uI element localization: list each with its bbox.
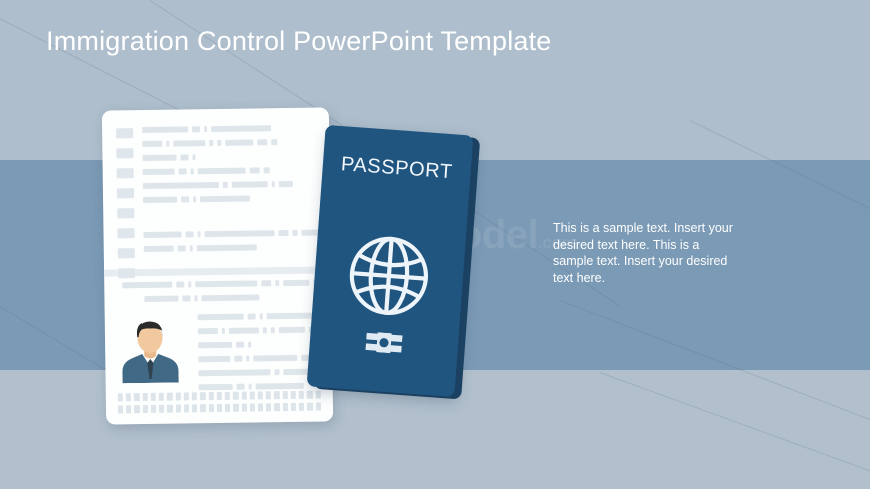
id-text-placeholder — [178, 245, 186, 251]
mrz-cell — [217, 404, 222, 412]
id-text-placeholder — [279, 327, 305, 333]
id-text-placeholder — [283, 280, 309, 286]
slide-canvas: Immigration Control PowerPoint Template … — [0, 0, 870, 489]
mrz-cell — [283, 403, 288, 411]
mrz-cell — [208, 392, 213, 400]
id-text-placeholder — [198, 328, 218, 334]
mrz-row — [118, 391, 321, 402]
id-field-label — [118, 268, 135, 278]
body-sample-text: This is a sample text. Insert your desir… — [553, 220, 739, 286]
id-text-placeholder — [293, 230, 298, 236]
mrz-cell — [176, 405, 181, 413]
avatar-figure — [120, 315, 181, 384]
mrz-cell — [274, 403, 279, 411]
mrz-cell — [167, 405, 172, 413]
id-text-placeholder — [248, 342, 251, 348]
mrz-cell — [217, 392, 222, 400]
mrz-cell — [184, 392, 189, 400]
id-text-placeholder — [181, 196, 189, 202]
id-text-placeholder — [190, 245, 193, 251]
id-text-placeholder — [279, 181, 293, 187]
id-text-placeholder — [198, 168, 246, 175]
mrz-cell — [184, 404, 189, 412]
id-text-placeholder — [264, 167, 270, 173]
mrz-cell — [159, 393, 164, 401]
id-field-label — [117, 208, 134, 218]
mrz-cell — [291, 391, 296, 399]
id-text-placeholder — [192, 126, 200, 132]
mrz-cell — [233, 404, 238, 412]
id-text-placeholder — [176, 281, 184, 287]
id-page-divider — [104, 266, 331, 276]
mrz-cell — [142, 393, 147, 401]
mrz-cell — [143, 405, 148, 413]
id-text-placeholder — [209, 140, 213, 146]
id-text-placeholder — [223, 182, 228, 188]
id-field-label — [118, 248, 135, 258]
mrz-cell — [266, 391, 271, 399]
mrz-cell — [175, 393, 180, 401]
id-text-placeholder — [211, 125, 271, 132]
id-text-placeholder — [143, 169, 175, 175]
id-text-placeholder — [236, 342, 244, 348]
id-field-label — [116, 128, 133, 138]
globe-icon — [345, 232, 433, 320]
id-text-placeholder — [144, 296, 178, 302]
mrz-cell — [118, 393, 123, 401]
id-text-placeholder — [263, 327, 267, 333]
id-text-placeholder — [204, 126, 207, 132]
biometric-chip-icon — [365, 331, 402, 354]
id-text-placeholder — [275, 280, 279, 286]
mrz-cell — [316, 403, 321, 411]
mrz-cell — [118, 405, 123, 413]
mrz-cell — [126, 393, 131, 401]
id-text-placeholder — [142, 155, 176, 161]
mrz-cell — [291, 403, 296, 411]
mrz-cell — [225, 392, 230, 400]
id-text-placeholder — [144, 231, 182, 238]
id-field-label — [117, 188, 134, 198]
id-text-placeholder — [234, 356, 242, 362]
slide-title: Immigration Control PowerPoint Template — [46, 26, 552, 57]
mrz-cell — [250, 403, 255, 411]
mrz-cell — [167, 393, 172, 401]
machine-readable-zone — [118, 391, 321, 418]
mrz-cell — [134, 393, 139, 401]
passport-cover: PASSPORT — [307, 125, 474, 397]
id-text-placeholder — [198, 356, 230, 362]
id-text-placeholder — [205, 230, 275, 237]
id-text-placeholder — [199, 384, 233, 390]
id-text-placeholder — [246, 356, 249, 362]
id-field-label — [116, 148, 133, 158]
id-text-placeholder — [182, 295, 190, 301]
mrz-cell — [307, 403, 312, 411]
mrz-cell — [274, 391, 279, 399]
mrz-cell — [159, 405, 164, 413]
id-text-placeholder — [225, 139, 253, 145]
mrz-cell — [266, 403, 271, 411]
id-text-placeholder — [197, 244, 257, 251]
mrz-cell — [134, 405, 139, 413]
mrz-cell — [151, 393, 156, 401]
mrz-cell — [241, 392, 246, 400]
id-text-placeholder — [194, 295, 197, 301]
id-text-placeholder — [232, 181, 268, 188]
mrz-cell — [209, 404, 214, 412]
id-text-placeholder — [260, 313, 263, 319]
id-text-placeholder — [229, 327, 259, 333]
id-text-placeholder — [248, 313, 256, 319]
id-text-placeholder — [261, 280, 271, 286]
mrz-cell — [282, 391, 287, 399]
id-page-content — [102, 107, 333, 424]
id-text-placeholder — [195, 280, 257, 287]
id-text-placeholder — [271, 139, 277, 145]
id-text-placeholder — [166, 141, 169, 147]
id-text-placeholder — [188, 281, 191, 287]
mrz-cell — [258, 403, 263, 411]
id-text-placeholder — [200, 196, 250, 203]
mrz-cell — [299, 391, 304, 399]
id-text-placeholder — [180, 154, 188, 160]
mrz-cell — [241, 404, 246, 412]
id-text-placeholder — [143, 197, 177, 203]
id-text-placeholder — [193, 196, 196, 202]
id-text-placeholder — [122, 282, 172, 289]
id-text-placeholder — [142, 141, 162, 147]
mrz-cell — [225, 404, 230, 412]
mrz-cell — [250, 391, 255, 399]
id-text-placeholder — [217, 140, 221, 146]
id-text-placeholder — [201, 294, 259, 301]
id-text-placeholder — [198, 231, 201, 237]
mrz-cell — [307, 391, 312, 399]
id-text-placeholder — [144, 246, 174, 252]
id-text-placeholder — [186, 231, 194, 237]
id-field-label — [117, 228, 134, 238]
mrz-cell — [299, 403, 304, 411]
mrz-cell — [200, 404, 205, 412]
id-text-placeholder — [257, 139, 267, 145]
id-text-placeholder — [198, 369, 270, 376]
id-text-placeholder — [271, 327, 275, 333]
id-text-placeholder — [222, 328, 225, 334]
id-text-placeholder — [198, 342, 232, 348]
mrz-cell — [192, 404, 197, 412]
id-text-placeholder — [143, 182, 219, 189]
id-text-placeholder — [142, 126, 188, 133]
id-text-placeholder — [198, 314, 244, 321]
id-text-placeholder — [192, 154, 195, 160]
id-text-placeholder — [272, 181, 275, 187]
avatar — [120, 315, 181, 384]
mrz-row — [118, 403, 321, 414]
id-text-placeholder — [279, 230, 289, 236]
id-text-placeholder — [250, 167, 260, 173]
id-text-placeholder — [173, 140, 205, 146]
mrz-cell — [258, 391, 263, 399]
mrz-cell — [200, 392, 205, 400]
id-field-label — [117, 168, 134, 178]
passport-book[interactable]: PASSPORT — [316, 130, 476, 402]
id-text-placeholder — [249, 384, 252, 390]
passport-cover-label: PASSPORT — [322, 152, 471, 186]
id-text-placeholder — [179, 168, 187, 174]
id-text-placeholder — [274, 369, 279, 375]
id-text-placeholder — [191, 168, 194, 174]
id-text-placeholder — [253, 355, 297, 362]
id-text-placeholder — [237, 384, 245, 390]
mrz-cell — [126, 405, 131, 413]
mrz-cell — [192, 392, 197, 400]
passport-id-page[interactable] — [102, 107, 333, 424]
id-text-placeholder — [256, 383, 304, 390]
mrz-cell — [233, 392, 238, 400]
mrz-cell — [151, 405, 156, 413]
